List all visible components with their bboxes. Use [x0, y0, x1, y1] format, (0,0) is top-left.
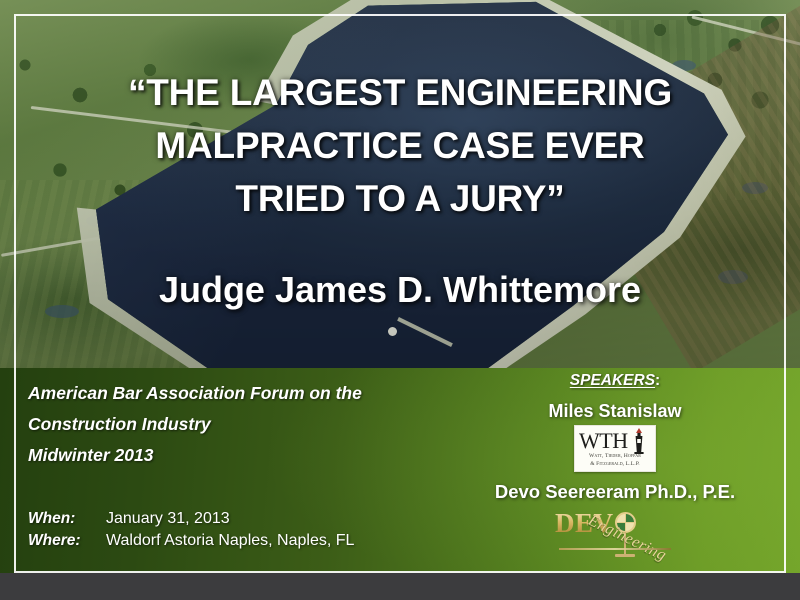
devo-engineering-logo: DEV Engineering: [553, 504, 677, 558]
event-line-2: Construction Industry: [28, 409, 362, 440]
wthf-logo-line-2: & Fitzgerald, L.L.P.: [575, 461, 655, 469]
event-line-3: Midwinter 2013: [28, 440, 362, 471]
wthf-logo-letters: WTH: [579, 430, 628, 452]
wthf-logo-subtext: Watt, Tieder, Hoffar & Fitzgerald, L.L.P…: [575, 453, 655, 468]
lighthouse-icon: [631, 428, 647, 454]
presentation-slide: “THE LARGEST ENGINEERING MALPRACTICE CAS…: [0, 0, 800, 600]
title-line-2: MALPRACTICE CASE EVER: [0, 119, 800, 172]
speakers-section: SPEAKERS: Miles Stanislaw WTH Watt, Tied…: [440, 372, 790, 558]
wthf-logo: WTH Watt, Tieder, Hoffar & Fitzgerald, L…: [574, 425, 656, 472]
logistics: When: January 31, 2013 Where: Waldorf As…: [28, 508, 354, 552]
speakers-heading: SPEAKERS:: [440, 372, 790, 390]
wthf-logo-line-1: Watt, Tieder, Hoffar: [575, 453, 655, 461]
speakers-heading-text: SPEAKERS: [570, 372, 655, 389]
when-row: When: January 31, 2013: [28, 508, 354, 530]
when-value: January 31, 2013: [106, 508, 230, 530]
title-attribution: Judge James D. Whittemore: [0, 268, 800, 312]
where-row: Where: Waldorf Astoria Naples, Naples, F…: [28, 530, 354, 552]
speaker-name-2: Devo Seereeram Ph.D., P.E.: [440, 481, 790, 503]
event-details: American Bar Association Forum on the Co…: [28, 378, 362, 471]
where-label: Where:: [28, 530, 106, 552]
bottom-strip: [0, 573, 800, 600]
devo-logo-rule: [559, 548, 671, 550]
event-line-1: American Bar Association Forum on the: [28, 378, 362, 409]
speaker-name-1: Miles Stanislaw: [440, 401, 790, 422]
title-line-1: “THE LARGEST ENGINEERING: [0, 66, 800, 119]
where-value: Waldorf Astoria Naples, Naples, FL: [106, 530, 354, 552]
title-line-3: TRIED TO A JURY”: [0, 172, 800, 225]
speakers-heading-colon: :: [655, 372, 660, 389]
slide-title: “THE LARGEST ENGINEERING MALPRACTICE CAS…: [0, 66, 800, 225]
when-label: When:: [28, 508, 106, 530]
